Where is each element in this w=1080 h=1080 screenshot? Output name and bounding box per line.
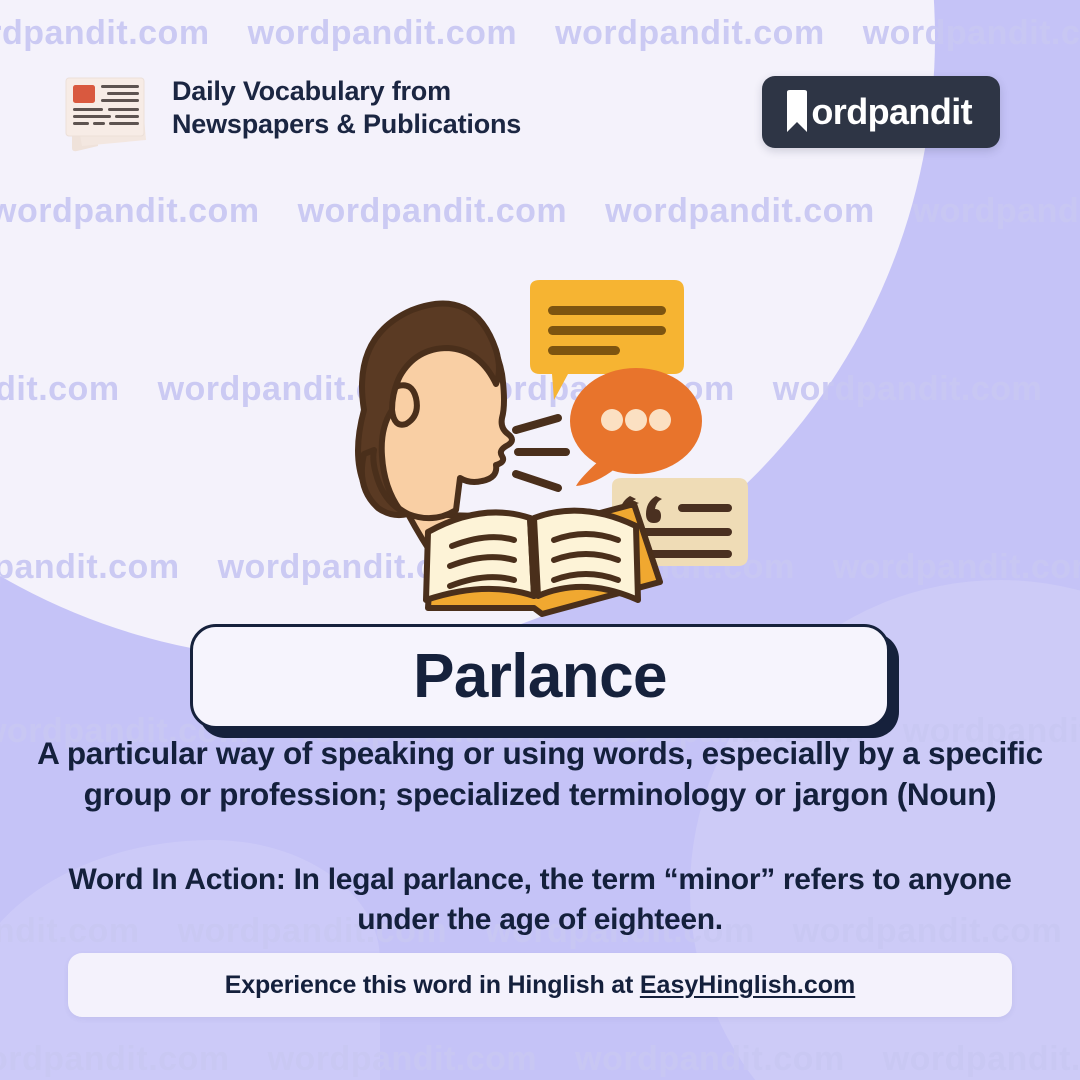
word-card-container: Parlance — [190, 624, 890, 729]
page-title: Parlance — [413, 646, 667, 708]
footer-text: Experience this word in Hinglish at — [225, 971, 640, 999]
header: Daily Vocabulary from Newspapers & Publi… — [58, 62, 1022, 172]
word-in-action: Word In Action: In legal parlance, the t… — [34, 860, 1046, 939]
footer-prefix: Experience this word in Hinglish at Easy… — [225, 971, 855, 1000]
header-title: Daily Vocabulary from Newspapers & Publi… — [172, 75, 521, 141]
word-definition: A particular way of speaking or using wo… — [28, 733, 1052, 815]
wordpandit-logo[interactable]: ordpandit — [762, 76, 1000, 148]
vocabulary-card: Daily Vocabulary from Newspapers & Publi… — [0, 0, 1080, 1080]
word-card: Parlance — [190, 624, 890, 729]
bookmark-w-icon — [784, 90, 810, 134]
easyhinglish-link[interactable]: EasyHinglish.com — [640, 971, 855, 999]
newspaper-icon — [58, 62, 154, 154]
footer-bar: Experience this word in Hinglish at Easy… — [68, 953, 1012, 1017]
logo-text: ordpandit — [811, 94, 972, 130]
person-speaking-with-book-illustration — [330, 278, 750, 623]
brand-group: Daily Vocabulary from Newspapers & Publi… — [58, 62, 521, 154]
